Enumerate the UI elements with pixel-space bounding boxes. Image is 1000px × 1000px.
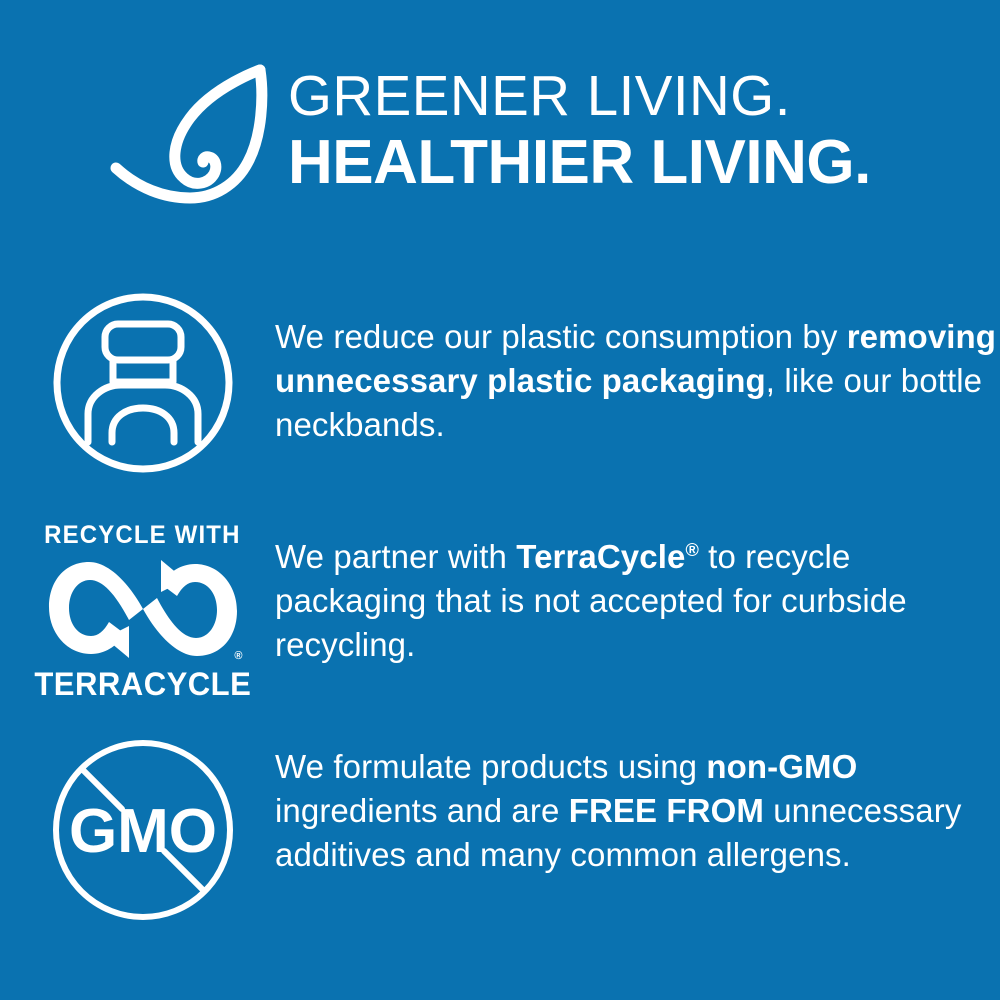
feature-text-3-emphasis-4: FREE FROM: [569, 792, 764, 829]
headline-block: GREENER LIVING. HEALTHIER LIVING.: [288, 66, 871, 197]
terracycle-symbol-wrap: ®: [43, 554, 243, 664]
feature-text-3-emphasis-2: non-GMO: [706, 748, 857, 785]
feature-text-3-part-1: We formulate products using: [275, 748, 706, 785]
promo-panel: GREENER LIVING. HEALTHIER LIVING. We red…: [0, 0, 1000, 1000]
feature-row-terracycle: RECYCLE WITH ® TERRACYCLE: [0, 515, 1000, 700]
feature-text-3-part-3: ingredients and are: [275, 792, 569, 829]
leaf-icon: [110, 62, 270, 212]
header: GREENER LIVING. HEALTHIER LIVING.: [0, 62, 1000, 222]
feature-row-plastic-reduction: We reduce our plastic consumption by rem…: [0, 290, 1000, 476]
feature-text-1: We reduce our plastic consumption by rem…: [275, 290, 1000, 447]
headline-line-2: HEALTHIER LIVING.: [288, 130, 871, 197]
plastic-bottle-circle-icon: [50, 290, 236, 476]
terracycle-logo: RECYCLE WITH ® TERRACYCLE: [43, 523, 243, 700]
feature-text-2: We partner with TerraCycle® to recycle p…: [275, 515, 1000, 667]
gmo-label: GMO: [68, 797, 216, 866]
feature-text-2-part-1: We partner with: [275, 538, 516, 575]
terracycle-registered-mark: ®: [234, 651, 242, 662]
terracycle-logo-bottom-text: TERRACYCLE: [34, 668, 251, 700]
icon-slot-3: GMO: [0, 735, 275, 925]
headline-line-1: GREENER LIVING.: [288, 66, 791, 126]
icon-slot-1: [0, 290, 275, 476]
feature-row-non-gmo: GMO We formulate products using non-GMO …: [0, 735, 1000, 925]
feature-text-2-emphasis-2: TerraCycle: [516, 538, 685, 575]
infinity-recycle-arrows-icon: [43, 554, 243, 664]
feature-text-1-part-1: We reduce our plastic consumption by: [275, 318, 847, 355]
terracycle-logo-top-text: RECYCLE WITH: [44, 523, 240, 548]
no-gmo-circle-icon: GMO: [48, 735, 238, 925]
icon-slot-2: RECYCLE WITH ® TERRACYCLE: [0, 515, 275, 700]
feature-text-3: We formulate products using non-GMO ingr…: [275, 735, 1000, 877]
registered-trademark-icon: ®: [685, 540, 698, 560]
